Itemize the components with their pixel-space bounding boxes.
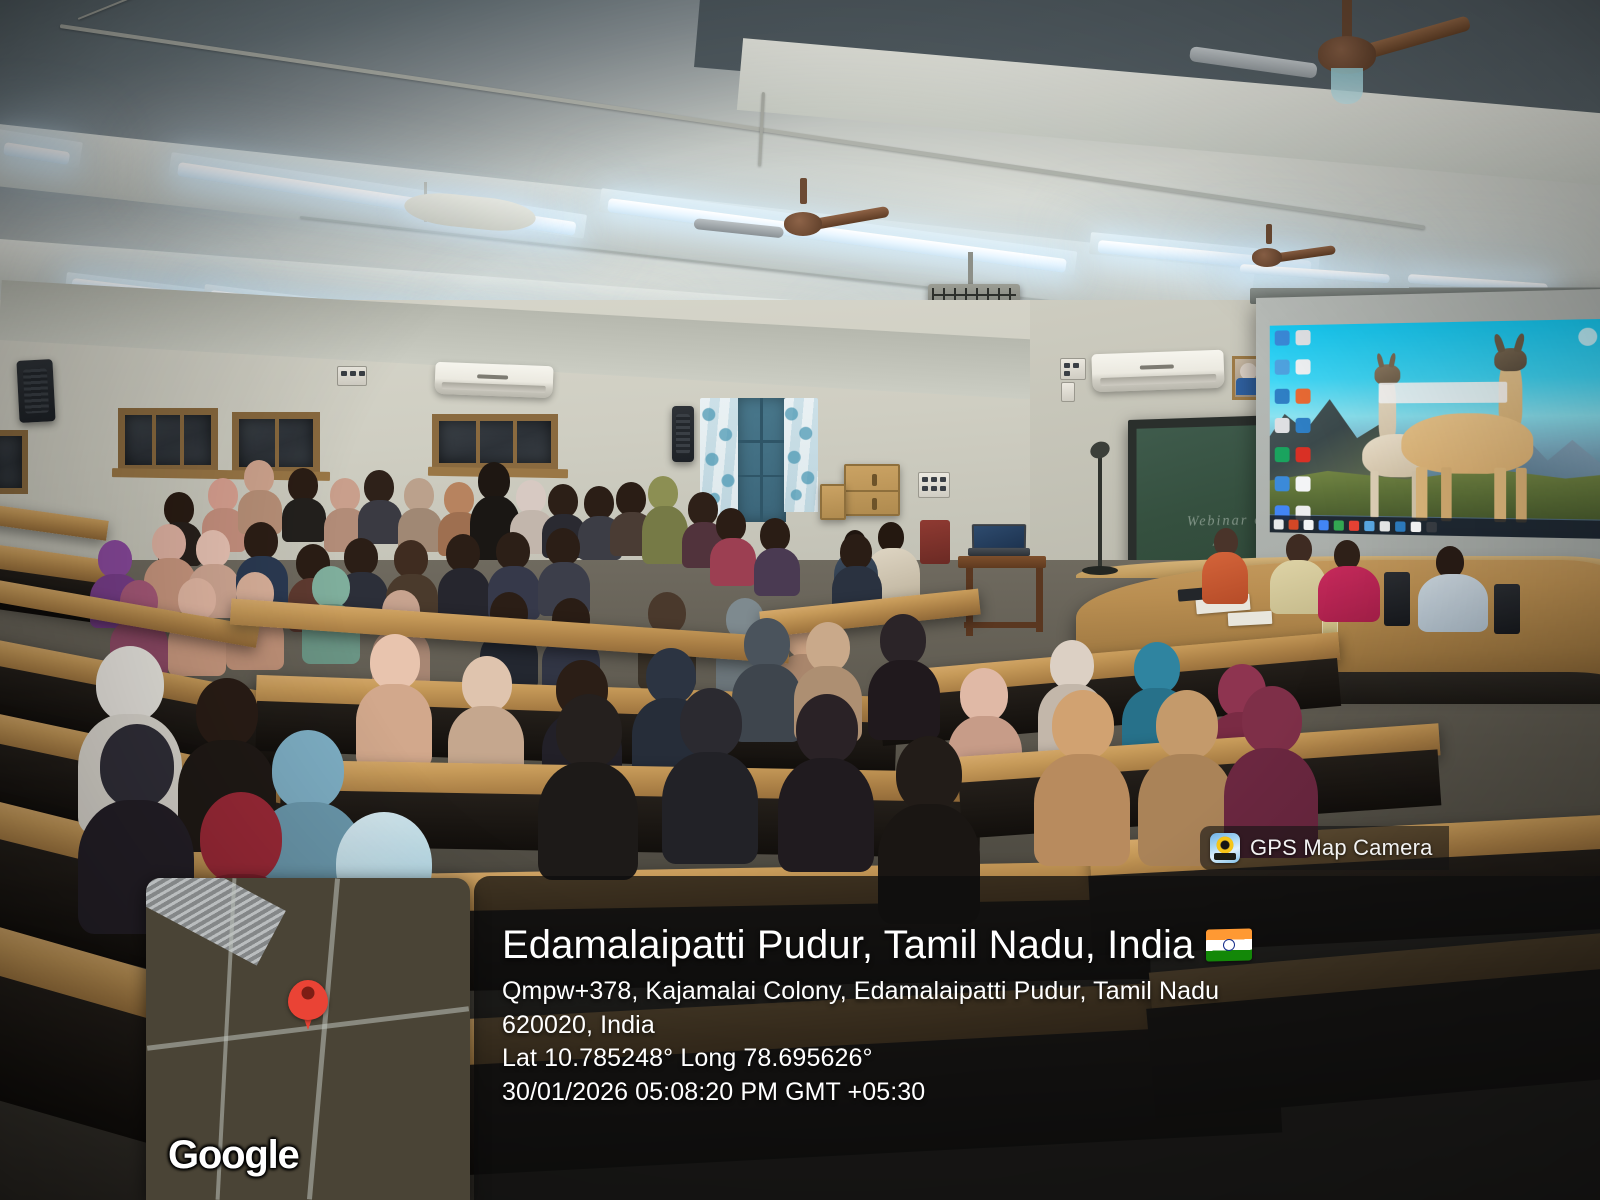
address-line-2: 620020, India: [502, 1009, 1600, 1043]
window: [232, 412, 320, 474]
junction-box: [1061, 382, 1075, 402]
laptop-screen: [972, 524, 1026, 550]
desktop-window: [1379, 382, 1508, 404]
microphone-base: [1082, 566, 1118, 575]
desktop-watermark: [1578, 328, 1597, 346]
electrical-switch-panel: [1060, 358, 1086, 380]
window: [118, 408, 218, 472]
photo-canvas: Webinar on AI: [0, 0, 1600, 1200]
electrical-switch-panel: [337, 366, 367, 386]
door: [738, 398, 786, 522]
projector-mount-rod: [968, 252, 973, 288]
wall-speaker: [672, 406, 694, 462]
air-conditioner: [434, 362, 553, 399]
location-title: Edamalaipatti Pudur, Tamil Nadu, India: [502, 924, 1194, 966]
wall-cabinet: [820, 484, 846, 520]
projected-desktop: [1270, 319, 1600, 539]
map-thumbnail[interactable]: Google: [146, 878, 470, 1200]
taskbar: [1270, 515, 1600, 539]
india-flag-icon: [1206, 929, 1252, 962]
chair: [920, 520, 950, 564]
conduit-pipe: [78, 0, 301, 20]
gps-map-camera-badge: GPS Map Camera: [1200, 826, 1449, 870]
gps-info-panel: Edamalaipatti Pudur, Tamil Nadu, India Q…: [474, 876, 1600, 1200]
electrical-switch-panel: [918, 472, 950, 498]
desktop-icons: [1275, 330, 1333, 539]
coordinates: Lat 10.785248° Long 78.695626°: [502, 1042, 1600, 1076]
gps-app-name: GPS Map Camera: [1250, 835, 1433, 861]
laptop-keyboard: [968, 548, 1030, 556]
address-line-1: Qmpw+378, Kajamalai Colony, Edamalaipatt…: [502, 975, 1600, 1009]
air-conditioner: [1091, 350, 1224, 393]
table-stretcher: [964, 622, 1042, 628]
curtain: [784, 398, 818, 512]
google-watermark: Google: [168, 1133, 299, 1178]
location-title-row: Edamalaipatti Pudur, Tamil Nadu, India: [502, 924, 1600, 966]
wall-cabinet: [844, 464, 900, 516]
projection-screen: [1256, 289, 1600, 574]
timestamp: 30/01/2026 05:08:20 PM GMT +05:30: [502, 1076, 1600, 1110]
paper-sheet: [1228, 611, 1273, 626]
window: [0, 430, 28, 494]
wall-speaker: [16, 359, 55, 423]
camera-icon: [1210, 833, 1240, 863]
chair: [1494, 584, 1520, 634]
chair: [1384, 572, 1410, 626]
microphone-stand: [1098, 452, 1102, 574]
podium-table: [958, 556, 1046, 568]
location-pin-icon: [288, 980, 328, 1020]
